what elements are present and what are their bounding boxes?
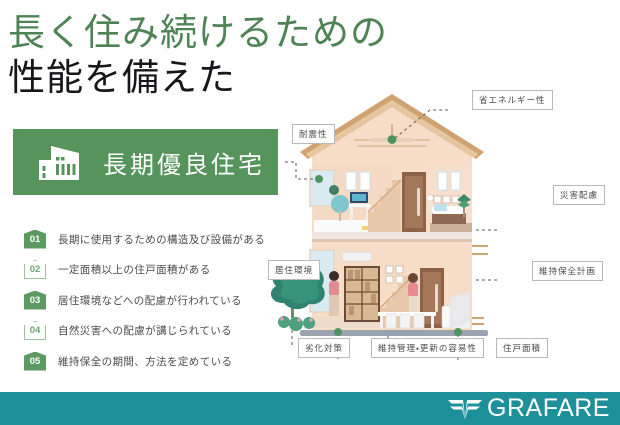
headline-line-1: 長く住み続けるための <box>8 12 308 56</box>
wing-leaf-icon <box>446 397 484 421</box>
criteria-text-02: 一定面積以上の住戸面積がある <box>58 262 211 277</box>
grafare-logo: GRAFARE <box>446 396 610 421</box>
list-item: 03 居住環境などへの配慮が行われている <box>24 289 274 311</box>
footer-bar: GRAFARE <box>0 392 620 425</box>
criteria-badge-02: 02 <box>24 260 46 279</box>
adult-figure-1f-left <box>329 271 339 316</box>
callout-degradation: 劣化対策 <box>298 338 350 358</box>
brand-name: GRAFARE <box>487 396 610 421</box>
callout-unit-area: 住戸面積 <box>496 338 548 358</box>
criteria-text-04: 自然災害への配慮が講じられている <box>58 323 232 338</box>
criteria-badge-01: 01 <box>24 230 46 249</box>
banner-label: 長期優良住宅 <box>103 145 265 180</box>
certification-banner: 長期優良住宅 <box>13 129 278 195</box>
criteria-text-05: 維持保全の期間、方法を定めている <box>58 354 232 369</box>
poster-root: 長く住み続けるための 性能を備えた 長期優良住宅 <box>0 0 620 425</box>
callout-earthquake: 耐震性 <box>292 124 335 144</box>
criteria-badge-04: 04 <box>24 321 46 340</box>
criteria-list: 01 長期に使用するための構造及び設備がある 02 一定面積以上の住戸面積がある… <box>24 228 274 381</box>
criteria-badge-05: 05 <box>24 352 46 371</box>
list-item: 01 長期に使用するための構造及び設備がある <box>24 228 274 250</box>
criteria-text-01: 長期に使用するための構造及び設備がある <box>58 232 265 247</box>
child-figure-1f <box>408 273 418 314</box>
criteria-badge-03: 03 <box>24 291 46 310</box>
building-icon <box>35 140 93 184</box>
callout-disaster: 災害配慮 <box>553 185 605 205</box>
criteria-text-03: 居住環境などへの配慮が行われている <box>58 293 242 308</box>
list-item: 02 一定面積以上の住戸面積がある <box>24 259 274 281</box>
list-item: 05 維持保全の期間、方法を定めている <box>24 350 274 372</box>
list-item: 04 自然災害への配慮が講じられている <box>24 320 274 342</box>
callout-energy-saving: 省エネルギー性 <box>472 90 553 110</box>
callout-renewal-ease: 維持管理・更新の容易性 <box>371 338 484 358</box>
callout-maintenance-plan: 維持保全計画 <box>532 261 603 281</box>
callout-living-env: 居住環境 <box>268 260 320 280</box>
